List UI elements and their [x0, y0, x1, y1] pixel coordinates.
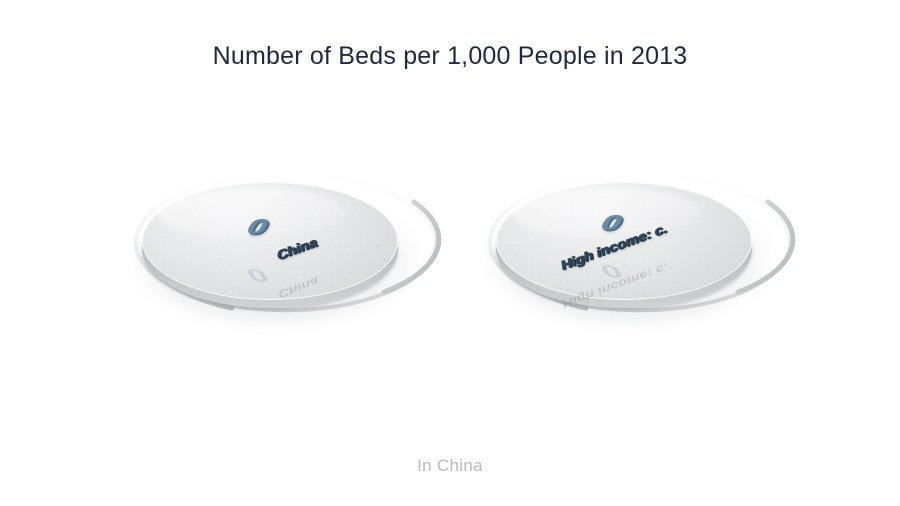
page-title: Number of Beds per 1,000 People in 2013 — [0, 42, 900, 71]
chart-caption: In China — [0, 456, 900, 476]
gauge-china[interactable]: 0 0 China China — [108, 162, 438, 337]
gauge-platter — [142, 182, 398, 300]
chart-canvas: Number of Beds per 1,000 People in 2013 — [0, 0, 900, 506]
platter-surface — [142, 182, 398, 300]
gauge-high-income[interactable]: 0 0 High income: c. High income: c. — [462, 162, 792, 337]
gauge-group: 0 0 China China — [0, 162, 900, 342]
